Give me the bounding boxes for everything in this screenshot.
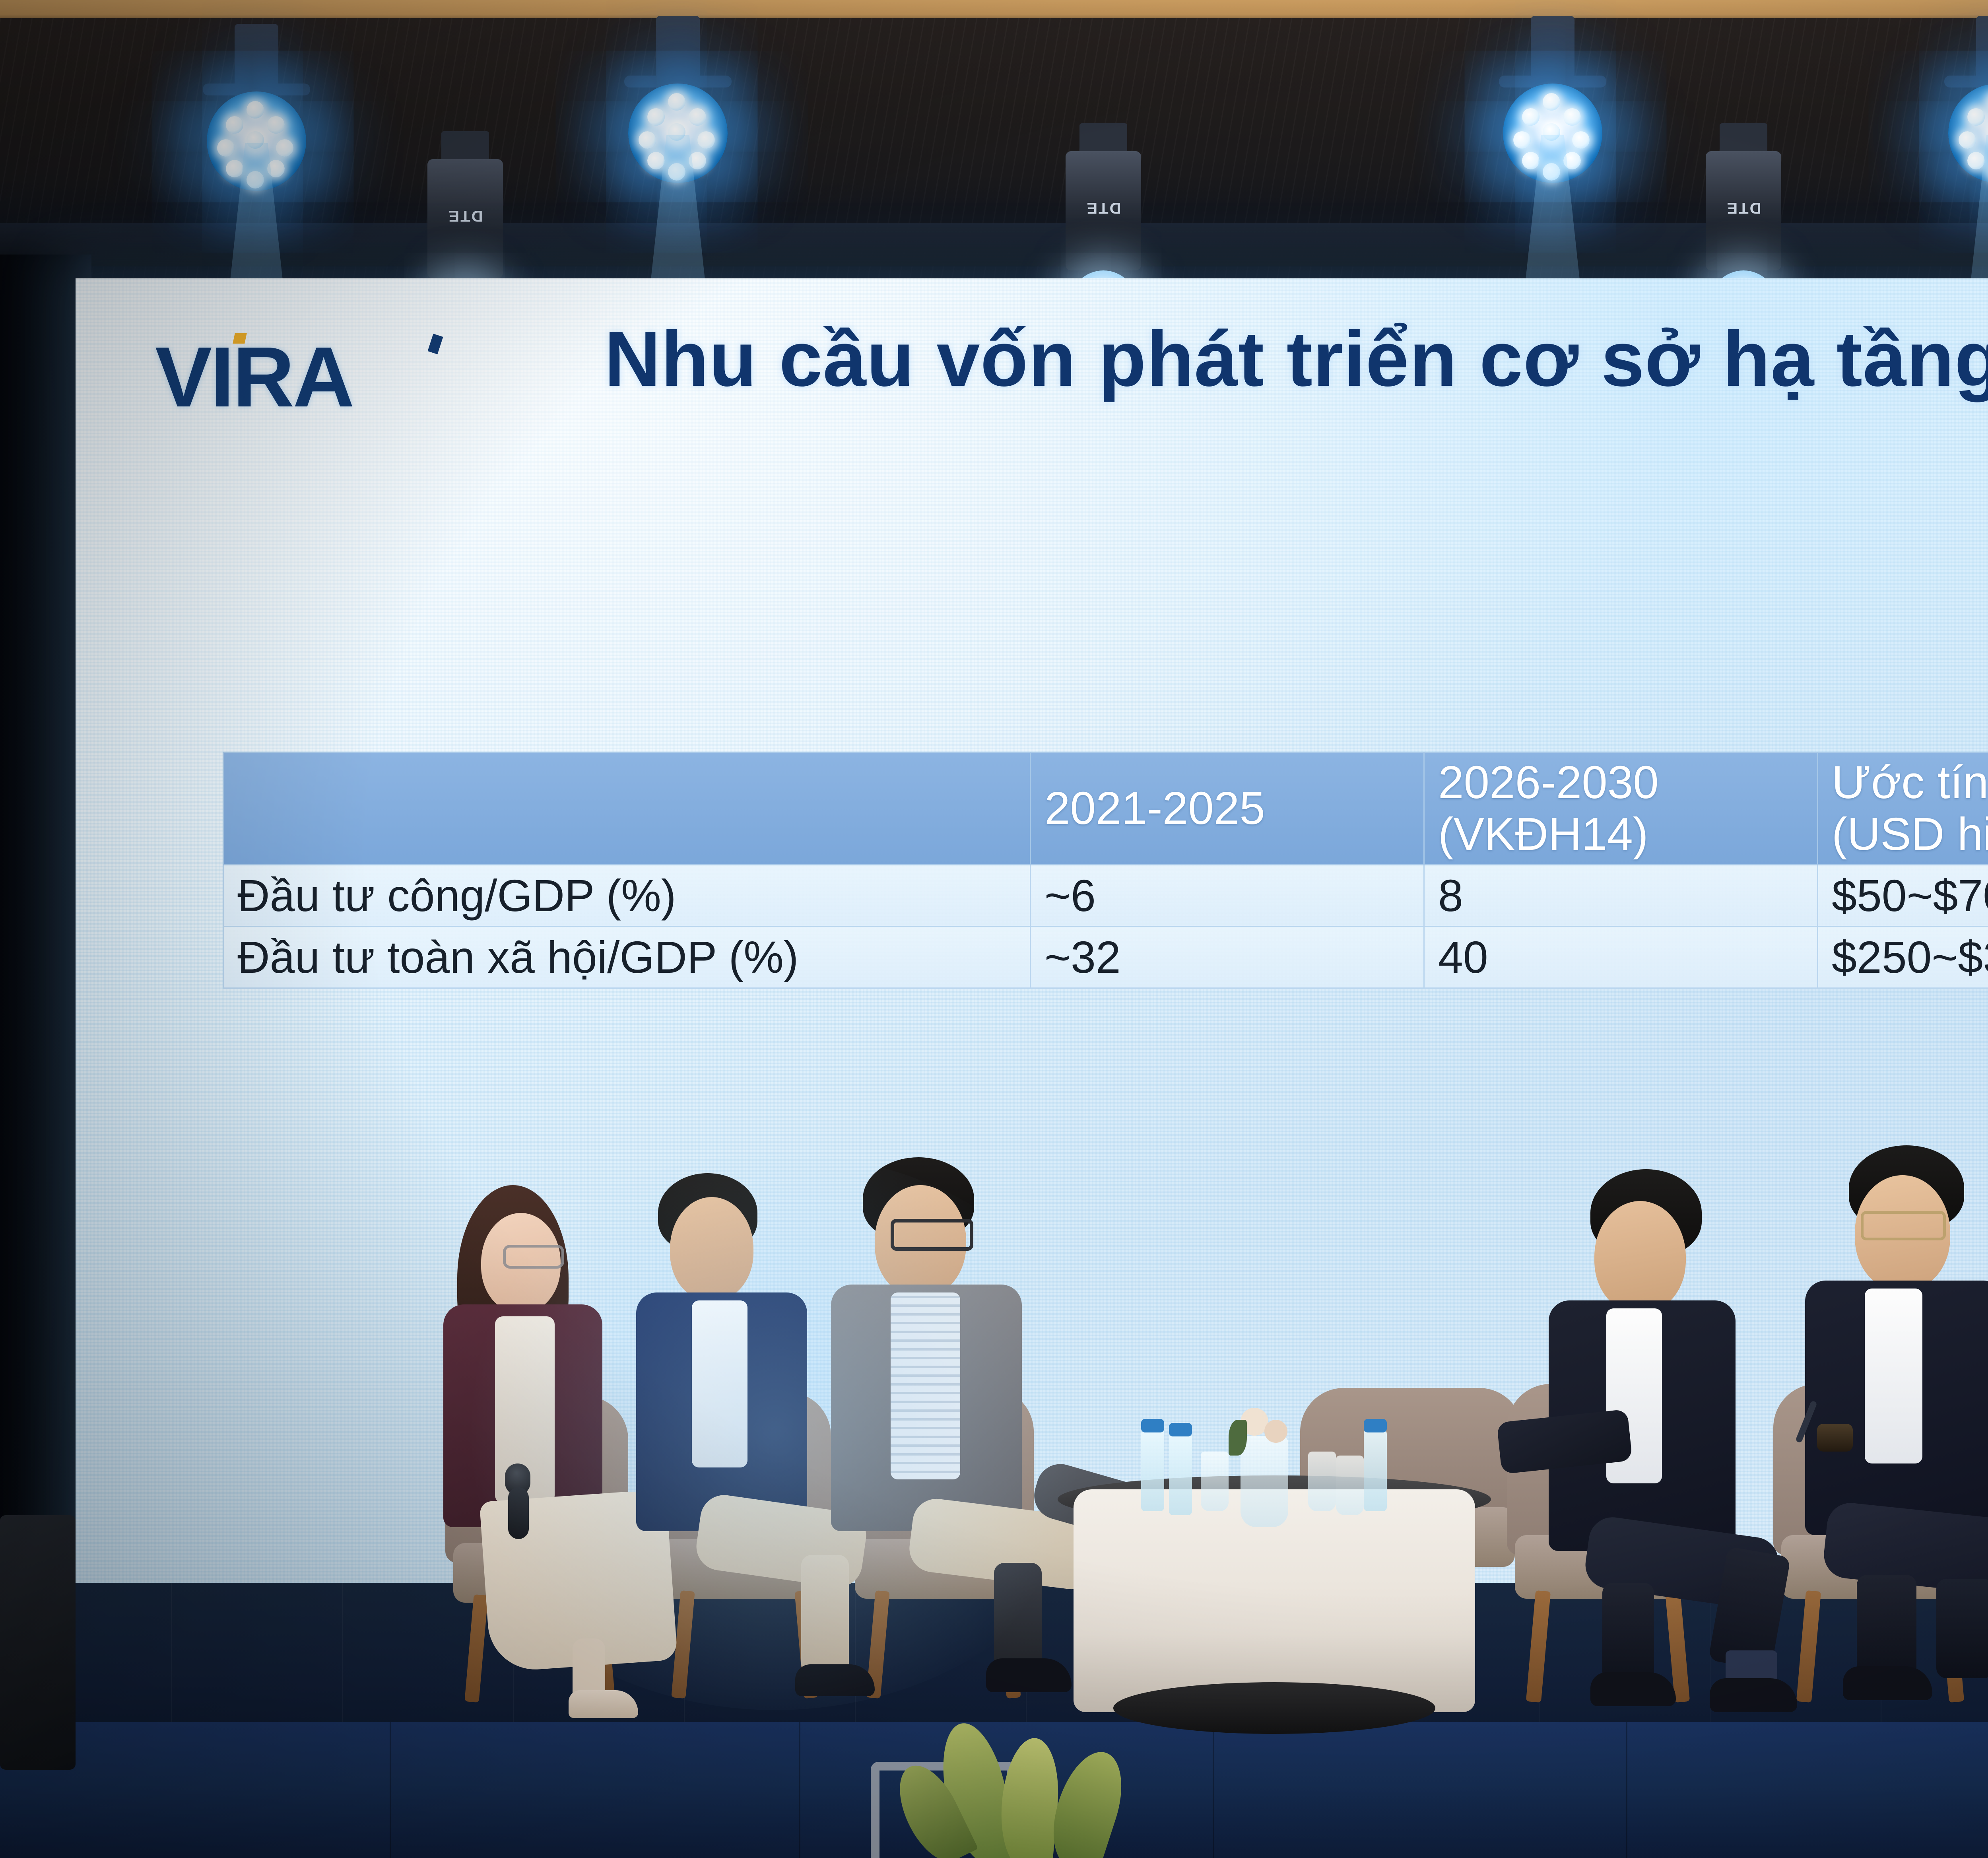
dress-shirt xyxy=(692,1300,747,1467)
drinking-glass xyxy=(1336,1456,1364,1515)
light-body: DTE xyxy=(1706,151,1781,270)
eyeglasses-icon xyxy=(891,1219,973,1251)
dress-shirt xyxy=(1865,1289,1922,1463)
shoe xyxy=(1843,1666,1932,1700)
trousers-lower xyxy=(994,1563,1042,1670)
light-body: DTE xyxy=(1066,151,1141,270)
water-bottle xyxy=(1169,1432,1192,1515)
light-clamp xyxy=(441,131,489,163)
light-body: DTE xyxy=(427,159,503,278)
table-header-2026-2030: 2026-2030 (VKĐH14) xyxy=(1424,752,1818,865)
coffee-table-base xyxy=(1113,1682,1435,1734)
row-value-estimate: $250~$350 tỉ/ 5năm xyxy=(1818,927,1988,988)
header-line-2: (USD hiện hành) xyxy=(1832,809,1988,860)
light-brand-label: DTE xyxy=(448,207,483,225)
slide-title: Nhu cầu vốn phát triển cơ sở hạ tầng xyxy=(604,314,1988,404)
table-header-estimate: Ước tính tăng thêm (USD hiện hành) xyxy=(1818,752,1988,865)
flower xyxy=(1264,1420,1287,1443)
light-head xyxy=(1948,84,1988,183)
row-value-2021-2025: ~32 xyxy=(1031,927,1424,988)
light-head xyxy=(1503,84,1602,183)
table-header: 2021-2025 2026-2030 (VKĐH14) Ước tính tă… xyxy=(223,752,1988,865)
table-body: Đầu tư công/GDP (%) ~6 8 $50~$70 tỉ/ 5 n… xyxy=(223,865,1988,988)
panelist-5 xyxy=(1765,1145,1988,1710)
face xyxy=(1594,1201,1686,1312)
microphone-body xyxy=(508,1487,529,1539)
table-header-2021-2025: 2021-2025 xyxy=(1031,752,1424,865)
header-line-2: (VKĐH14) xyxy=(1438,809,1804,860)
wash-light-1 xyxy=(207,24,306,247)
drinking-glass xyxy=(1201,1452,1229,1511)
light-clamp xyxy=(1720,123,1767,155)
table-header-blank xyxy=(223,752,1031,865)
shoe xyxy=(1590,1672,1676,1706)
vira-logo: VIRA xyxy=(155,334,353,420)
water-bottle xyxy=(1141,1428,1164,1511)
table-header-row: 2021-2025 2026-2030 (VKĐH14) Ước tính tă… xyxy=(223,752,1988,865)
light-brand-label: DTE xyxy=(1726,199,1761,217)
light-head xyxy=(207,91,306,191)
water-bottle xyxy=(1364,1428,1387,1511)
vira-logo-accent-mark xyxy=(233,333,247,344)
row-label: Đầu tư toàn xã hội/GDP (%) xyxy=(223,927,1031,988)
header-line-1: Ước tính tăng thêm xyxy=(1832,757,1988,809)
table-row: Đầu tư công/GDP (%) ~6 8 $50~$70 tỉ/ 5 n… xyxy=(223,865,1988,927)
eyeglasses-icon xyxy=(1861,1211,1946,1240)
row-value-2021-2025: ~6 xyxy=(1031,865,1424,927)
bottle-cap xyxy=(1364,1419,1387,1432)
stage-photo-scene: DTE DTE DTE DTE VIRA Nhu cầu vốn phát tr… xyxy=(0,0,1988,1858)
light-yoke-arm xyxy=(1944,76,1988,87)
row-value-2026-2030: 8 xyxy=(1424,865,1818,927)
light-head xyxy=(628,84,728,183)
checked-shirt xyxy=(891,1292,960,1479)
table-row: Đầu tư toàn xã hội/GDP (%) ~32 40 $250~$… xyxy=(223,927,1988,988)
shoe xyxy=(986,1658,1072,1692)
header-line-1: 2026-2030 xyxy=(1438,757,1804,809)
leg-standing xyxy=(1602,1583,1654,1682)
drinking-glass xyxy=(1308,1452,1336,1511)
row-label: Đầu tư công/GDP (%) xyxy=(223,865,1031,927)
infrastructure-capital-table: 2021-2025 2026-2030 (VKĐH14) Ước tính tă… xyxy=(223,752,1988,989)
speaker-cabinet-left xyxy=(0,1515,76,1770)
flower-vase xyxy=(1241,1436,1288,1527)
face xyxy=(670,1197,753,1300)
wash-light-2 xyxy=(628,16,728,239)
bottle-cap xyxy=(1141,1419,1164,1432)
wristwatch-icon xyxy=(1817,1424,1853,1452)
wash-light-3 xyxy=(1503,16,1602,239)
vira-logo-text: VIRA xyxy=(155,329,353,425)
light-clamp xyxy=(1079,123,1127,155)
eyeglasses-icon xyxy=(503,1245,564,1269)
bottle-cap xyxy=(1169,1423,1192,1436)
header-line-1: 2021-2025 xyxy=(1044,783,1410,834)
light-brand-label: DTE xyxy=(1086,199,1121,217)
leaf xyxy=(1229,1420,1247,1456)
row-value-estimate: $50~$70 tỉ/ 5 năm xyxy=(1818,865,1988,927)
wash-light-4 xyxy=(1948,16,1988,239)
leg-lower xyxy=(1857,1575,1916,1678)
row-value-2026-2030: 40 xyxy=(1424,927,1818,988)
leg-lower xyxy=(1936,1579,1988,1678)
